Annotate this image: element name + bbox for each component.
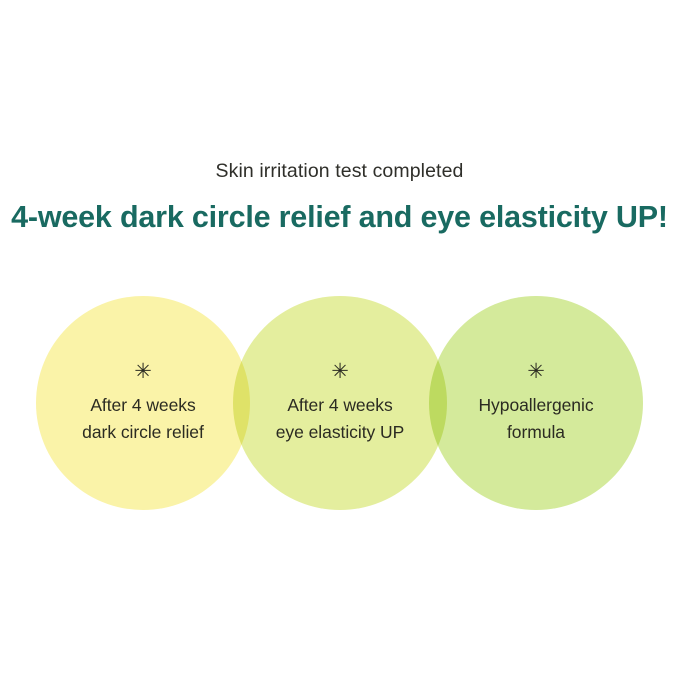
benefit-line-2: formula [507,419,565,446]
benefit-circle-hypoallergenic: ✳ Hypoallergenic formula [429,296,643,510]
asterisk-icon: ✳ [527,361,545,381]
benefit-line-2: eye elasticity UP [276,419,405,446]
benefit-line-2: dark circle relief [82,419,204,446]
asterisk-icon: ✳ [134,361,152,381]
benefit-circle-eye-elasticity: ✳ After 4 weeks eye elasticity UP [233,296,447,510]
asterisk-icon: ✳ [331,361,349,381]
benefit-line-1: After 4 weeks [287,392,392,419]
benefit-circle-dark-circle-relief: ✳ After 4 weeks dark circle relief [36,296,250,510]
benefit-circle-group: ✳ After 4 weeks dark circle relief ✳ Aft… [0,0,679,679]
promo-poster: Skin irritation test completed 4-week da… [0,0,679,679]
benefit-line-1: After 4 weeks [90,392,195,419]
benefit-line-1: Hypoallergenic [478,392,593,419]
